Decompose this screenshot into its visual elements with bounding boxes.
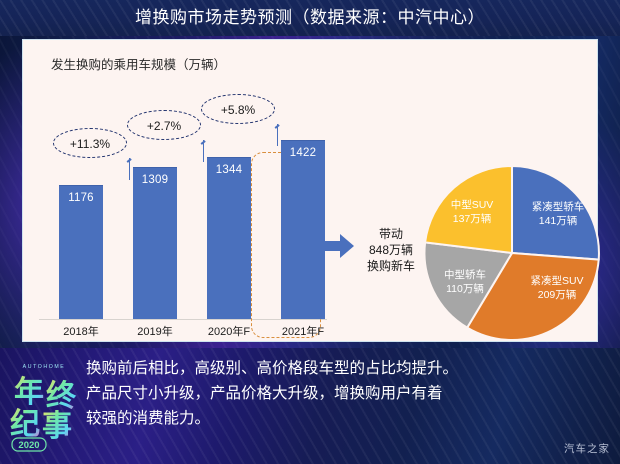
pie-slice-compact-sedan[interactable] [512, 166, 599, 260]
right-arrow-icon [321, 233, 355, 259]
logo-char-4: 事 [42, 409, 72, 444]
slide-root: 增换购市场走势预测（数据来源：中汽中心） 发生换购的乘用车规模（万辆） +11.… [0, 0, 620, 464]
logo-brand-en: AUTOHOME [23, 364, 66, 370]
growth-tick-2020 [203, 140, 204, 162]
bar-label-2019: 2019年 [121, 323, 189, 339]
drive-line-2: 848万辆 [359, 242, 423, 258]
bar-chart-title: 发生换购的乘用车规模（万辆） [51, 54, 226, 73]
bar-2020[interactable]: 1344 [207, 157, 251, 319]
bar-label-2018: 2018年 [47, 323, 115, 339]
growth-badge-2019: +11.3% [53, 128, 127, 158]
bar-2019[interactable]: 1309 [133, 167, 177, 319]
pie-chart: 紧凑型轿车 141万辆 紧凑型SUV 209万辆 中型轿车 110万辆 中型SU… [423, 164, 601, 342]
bar-label-2021: 2021年F [269, 323, 337, 339]
autohome-yearend-logo: AUTOHOME 年 终 纪 事 2020 [6, 358, 82, 454]
logo-char-3: 纪 [10, 407, 40, 442]
growth-tick-2021 [277, 124, 278, 146]
content-card: 发生换购的乘用车规模（万辆） +11.3% +2.7% +5.8% 1176 [22, 39, 598, 342]
caption-line-1: 换购前后相比，高级别、高价格段车型的占比均提升。 [86, 356, 606, 381]
growth-tick-2019 [129, 158, 130, 180]
caption-line-2: 产品尺寸小升级，产品价格大升级，增换购用户有着 [86, 381, 606, 406]
logo-char-1: 年 [14, 375, 44, 410]
caption-band: 换购前后相比，高级别、高价格段车型的占比均提升。 产品尺寸小升级，产品价格大升级… [0, 348, 620, 464]
growth-badge-2021: +5.8% [201, 94, 275, 124]
bar-value-2019: 1309 [133, 174, 177, 186]
bar-value-2020: 1344 [207, 164, 251, 176]
bar-label-2020: 2020年F [195, 323, 263, 339]
drive-line-1: 带动 [359, 226, 423, 242]
bar-value-2021: 1422 [281, 147, 325, 159]
page-title: 增换购市场走势预测（数据来源：中汽中心） [0, 0, 620, 36]
logo-year: 2020 [18, 440, 39, 451]
title-banner: 增换购市场走势预测（数据来源：中汽中心） [0, 0, 620, 36]
caption-line-3: 较强的消费能力。 [86, 406, 606, 431]
watermark: 汽车之家 [564, 441, 610, 456]
bar-2018[interactable]: 1176 [59, 185, 103, 319]
bar-chart: +11.3% +2.7% +5.8% 1176 2018年 1 [31, 100, 331, 340]
bar-value-2018: 1176 [59, 192, 103, 204]
growth-badge-2020: +2.7% [127, 110, 201, 140]
drive-annotation: 带动 848万辆 换购新车 [359, 226, 423, 274]
drive-line-3: 换购新车 [359, 258, 423, 274]
pie-slice-mid-suv[interactable] [425, 166, 512, 253]
caption-text: 换购前后相比，高级别、高价格段车型的占比均提升。 产品尺寸小升级，产品价格大升级… [86, 356, 606, 431]
bar-2021[interactable]: 1422 [281, 140, 325, 319]
